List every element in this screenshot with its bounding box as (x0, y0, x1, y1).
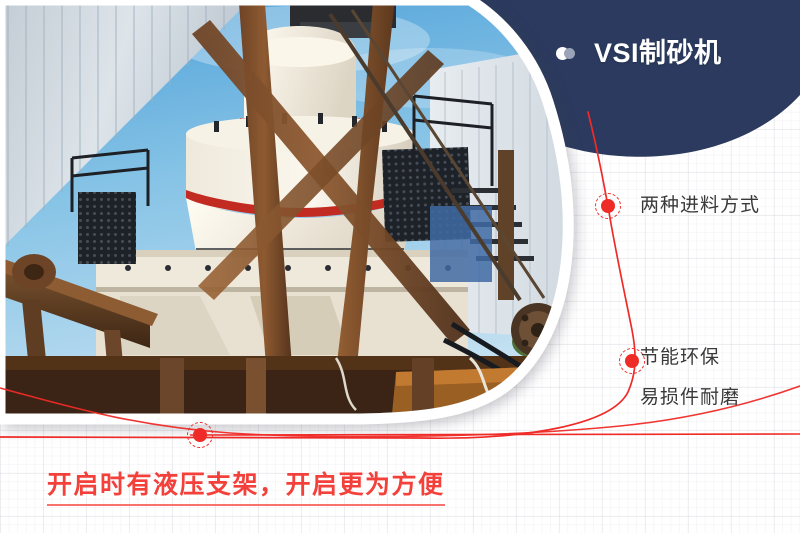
bullet-dot-icon (556, 47, 578, 60)
headline: VSI制砂机 (556, 40, 722, 67)
machine-photo-container (0, 0, 600, 430)
feature-label-eco: 节能环保 (640, 348, 720, 367)
feature-label-feed: 两种进料方式 (640, 196, 760, 215)
feature-label-wear: 易损件耐磨 (640, 388, 740, 407)
poster-canvas: VSI制砂机 两种进料方式 节能环保 易损件耐磨 开启时有液压支架，开启更为方便 (0, 0, 800, 533)
feature-marker-feed (595, 193, 621, 219)
caption-marker (187, 422, 213, 448)
page-title: VSI制砂机 (594, 40, 722, 67)
bottom-caption: 开启时有液压支架，开启更为方便 (47, 470, 445, 506)
